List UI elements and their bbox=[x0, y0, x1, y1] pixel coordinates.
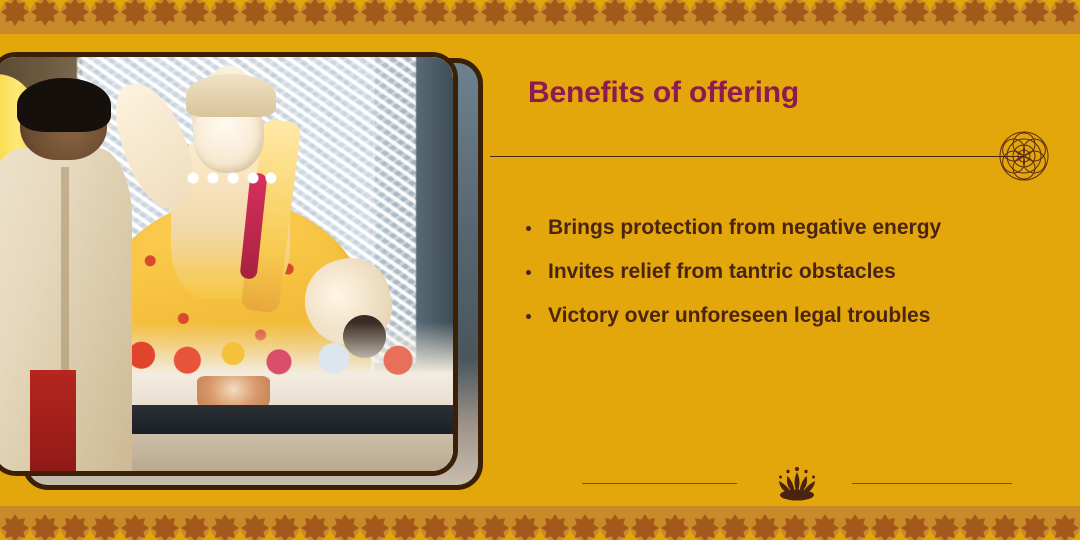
list-item: Brings protection from negative energy bbox=[520, 208, 1040, 248]
deity-idol-puja-photo bbox=[0, 57, 453, 471]
photo-stack bbox=[0, 40, 500, 490]
divider-line-right bbox=[852, 483, 1012, 484]
top-border-ornament bbox=[0, 0, 1080, 34]
list-item: Invites relief from tantric obstacles bbox=[520, 252, 1040, 292]
photo-card bbox=[0, 52, 458, 476]
content-panel: Benefits of offering Brings p bbox=[490, 40, 1080, 500]
list-item: Victory over unforeseen legal troubles bbox=[520, 296, 1040, 336]
lotus-divider bbox=[582, 465, 1012, 501]
idol-garland bbox=[181, 163, 281, 193]
divider-line-left bbox=[582, 483, 737, 484]
page-title: Benefits of offering bbox=[528, 76, 799, 110]
devotee-figure bbox=[0, 82, 132, 471]
devotee-red-dhoti bbox=[30, 370, 77, 471]
devotee-hair bbox=[17, 78, 110, 132]
idol-crown bbox=[186, 74, 276, 117]
title-divider-rule bbox=[490, 156, 1024, 157]
bottom-border-ornament bbox=[0, 506, 1080, 540]
slide-canvas: Benefits of offering Brings p bbox=[0, 0, 1080, 540]
mandala-flower-icon bbox=[998, 130, 1050, 182]
lotus-icon bbox=[767, 465, 827, 501]
benefits-list: Brings protection from negative energy I… bbox=[520, 208, 1040, 340]
